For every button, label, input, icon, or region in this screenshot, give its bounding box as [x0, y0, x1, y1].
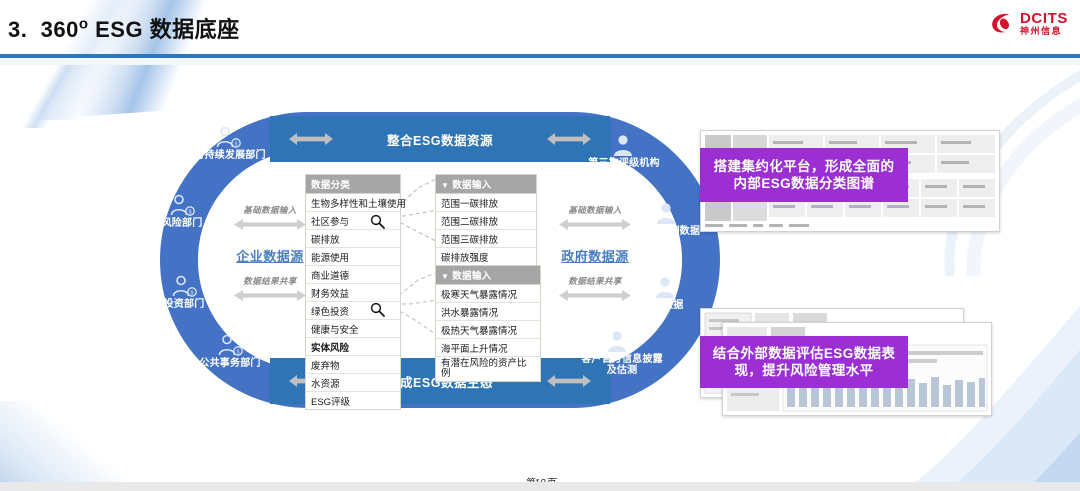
- node-label-public-affairs: 公共事务部门: [194, 358, 266, 369]
- band-integrate-resources: 整合ESG数据资源: [270, 116, 610, 162]
- brand-logo: DCITS 神州信息: [989, 10, 1068, 36]
- person-solid-icon: [606, 330, 632, 354]
- chevron-down-icon: ▼: [441, 181, 449, 190]
- dcits-swirl-icon: [989, 10, 1015, 36]
- category-row: 废弃物: [306, 356, 400, 374]
- input-row: 海平面上升情况: [436, 339, 540, 357]
- category-table-body: 生物多样性和土壤使用社区参与碳排放能源使用商业道德财务效益绿色投资健康与安全实体…: [306, 194, 400, 409]
- category-row: 社区参与: [306, 212, 400, 230]
- input-table-1-header: ▼数据输入: [436, 175, 536, 194]
- search-icon[interactable]: [370, 214, 385, 229]
- double-arrow-icon: [546, 132, 592, 146]
- callout-banner-1: 搭建集约化平台，形成全面的内部ESG数据分类图谱: [700, 148, 908, 202]
- category-row: 生物多样性和土壤使用: [306, 194, 400, 212]
- government-data-source-label: 政府数据源: [535, 246, 655, 265]
- category-row: 实体风险: [306, 338, 400, 356]
- category-row: 水资源: [306, 374, 400, 392]
- callout-banner-2: 结合外部数据评估ESG数据表现，提升风险管理水平: [700, 336, 908, 388]
- person-gear-icon: $: [172, 275, 198, 299]
- svg-text:$: $: [237, 349, 240, 355]
- person-solid-icon: [654, 276, 680, 300]
- input-row: 范围一碳排放: [436, 194, 536, 212]
- input-row: 极寒天气暴露情况: [436, 285, 540, 303]
- double-arrow-icon: [558, 289, 632, 302]
- input-row: 洪水暴露情况: [436, 303, 540, 321]
- input-row: 碳排放强度: [436, 248, 536, 266]
- callout-banner-1-text: 搭建集约化平台，形成全面的内部ESG数据分类图谱: [708, 158, 900, 193]
- double-arrow-icon: [288, 132, 334, 146]
- input-row: 范围二碳排放: [436, 212, 536, 230]
- person-gear-icon: $: [216, 126, 242, 150]
- esg-circular-diagram: 整合ESG数据资源 形成ESG数据生态 $ 可持续发展部门: [150, 112, 710, 412]
- chevron-down-icon: ▼: [441, 272, 449, 281]
- input-row: 范围三碳排放: [436, 230, 536, 248]
- double-arrow-icon: [233, 289, 307, 302]
- page-title: 3. 360o ESG 数据底座: [8, 12, 240, 44]
- title-number: 3.: [8, 17, 27, 42]
- svg-text:$: $: [189, 209, 192, 215]
- category-row: 财务效益: [306, 284, 400, 302]
- category-row: 绿色投资: [306, 302, 400, 320]
- flow-note-input-right: 基础数据输入: [535, 204, 655, 216]
- input-table-2-header: ▼数据输入: [436, 266, 540, 285]
- person-solid-icon: [655, 202, 681, 226]
- category-row: 碳排放: [306, 230, 400, 248]
- slide-root: 3. 360o ESG 数据底座 DCITS 神州信息 整合ESG数据资源: [0, 0, 1080, 491]
- svg-text:$: $: [235, 141, 238, 147]
- person-solid-icon: [612, 134, 638, 158]
- svg-text:$: $: [191, 290, 194, 296]
- category-row: 能源使用: [306, 248, 400, 266]
- title-main: 360: [41, 17, 79, 42]
- search-icon[interactable]: [370, 302, 385, 317]
- person-gear-icon: $: [170, 194, 196, 218]
- input-row: 有潜在风险的资产比例: [436, 357, 540, 381]
- node-label-third-party: 第三方评级机构: [588, 158, 660, 169]
- double-arrow-icon: [558, 218, 632, 231]
- category-row: 健康与安全: [306, 320, 400, 338]
- background-wedge-left: [0, 58, 110, 128]
- callout-banner-2-text: 结合外部数据评估ESG数据表现，提升风险管理水平: [708, 345, 900, 380]
- category-row: ESG评级: [306, 392, 400, 409]
- person-gear-icon: $: [218, 334, 244, 358]
- node-label-risk: 风险部门: [146, 218, 218, 229]
- government-source-column: 基础数据输入 政府数据源 数据结果共享: [535, 204, 655, 313]
- logo-text-cn: 神州信息: [1020, 27, 1068, 36]
- band-top-label: 整合ESG数据资源: [387, 130, 493, 149]
- title-degree-symbol: o: [79, 16, 89, 33]
- category-table-header: 数据分类: [306, 175, 400, 194]
- input-row: 极热天气暴露情况: [436, 321, 540, 339]
- header-divider-shadow: [0, 58, 1080, 65]
- data-input-table-physical-risk: ▼数据输入 极寒天气暴露情况洪水暴露情况极热天气暴露情况海平面上升情况有潜在风险…: [435, 265, 541, 382]
- flow-note-share-right: 数据结果共享: [535, 275, 655, 287]
- logo-text-en: DCITS: [1020, 11, 1068, 26]
- title-rest: ESG 数据底座: [95, 17, 240, 42]
- double-arrow-icon: [233, 218, 307, 231]
- footer-bar: [0, 482, 1080, 491]
- node-label-client: 客户官方信息披露及估测: [580, 354, 664, 376]
- data-category-table: 数据分类 生物多样性和土壤使用社区参与碳排放能源使用商业道德财务效益绿色投资健康…: [305, 174, 401, 410]
- category-row: 商业道德: [306, 266, 400, 284]
- node-label-sustainability: 可持续发展部门: [194, 150, 266, 161]
- input-table-2-body: 极寒天气暴露情况洪水暴露情况极热天气暴露情况海平面上升情况有潜在风险的资产比例: [436, 285, 540, 381]
